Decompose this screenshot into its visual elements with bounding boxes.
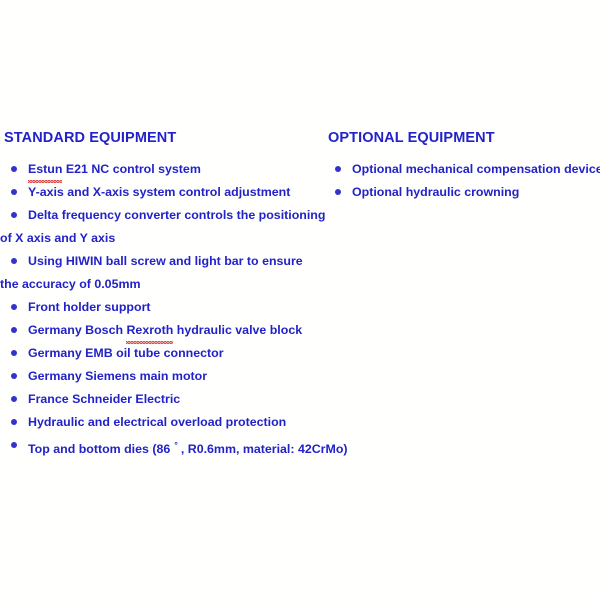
list-item: Using HIWIN ball screw and light bar to … (4, 250, 322, 273)
list-item: Estun E21 NC control system (4, 158, 322, 181)
bullet-dot-icon (11, 419, 17, 425)
list-item-label: Germany Siemens main motor (28, 365, 207, 388)
bullet-dot-icon (11, 350, 17, 356)
spellcheck-word: Estun (28, 158, 62, 181)
bullet-dot-icon (11, 442, 17, 448)
list-item: Germany EMB oil tube connector (4, 342, 322, 365)
list-item-label: Using HIWIN ball screw and light bar to … (28, 250, 303, 273)
dies-angle-prefix: Top and bottom dies (86 (28, 442, 170, 456)
list-item: Y-axis and X-axis system control adjustm… (4, 181, 322, 204)
bullet-dot-icon (335, 189, 341, 195)
bullet-dot-icon (11, 166, 17, 172)
list-item: Germany Bosch Rexroth hydraulic valve bl… (4, 319, 322, 342)
list-item-label: Germany EMB oil tube connector (28, 342, 224, 365)
optional-equipment-list: Optional mechanical compensation device … (328, 158, 600, 204)
list-item: Optional mechanical compensation device (328, 158, 600, 181)
bullet-dot-icon (11, 212, 17, 218)
standard-equipment-column: STANDARD EQUIPMENT Estun E21 NC control … (4, 129, 322, 461)
dies-angle-suffix: , R0.6mm, material: 42CrMo) (181, 442, 348, 456)
spellcheck-word: Rexroth (126, 319, 173, 342)
bullet-dot-icon (11, 396, 17, 402)
list-item: Optional hydraulic crowning (328, 181, 600, 204)
list-item: France Schneider Electric (4, 388, 322, 411)
bullet-dot-icon (335, 166, 341, 172)
list-item-label: Delta frequency converter controls the p… (28, 204, 325, 227)
bullet-dot-icon (11, 258, 17, 264)
list-item-label: Hydraulic and electrical overload protec… (28, 411, 286, 434)
list-item-label: France Schneider Electric (28, 388, 180, 411)
list-item: Germany Siemens main motor (4, 365, 322, 388)
list-item-label: Germany Bosch Rexroth hydraulic valve bl… (28, 319, 302, 342)
standard-equipment-list: Estun E21 NC control system Y-axis and X… (4, 158, 322, 461)
list-item-continuation: the accuracy of 0.05mm (0, 273, 322, 296)
degree-symbol-icon: ° (170, 440, 181, 450)
list-item-continuation: of X axis and Y axis (0, 227, 322, 250)
bullet-dot-icon (11, 327, 17, 333)
bullet-dot-icon (11, 373, 17, 379)
list-item-label-prefix: Germany Bosch (28, 323, 126, 337)
list-item-label-suffix: hydraulic valve block (173, 323, 302, 337)
list-item: Front holder support (4, 296, 322, 319)
list-item-label: Estun E21 NC control system (28, 158, 201, 181)
list-item-label: Optional hydraulic crowning (352, 181, 519, 204)
list-item-label: Front holder support (28, 296, 151, 319)
list-item-label-suffix: E21 NC control system (62, 162, 200, 176)
standard-equipment-heading: STANDARD EQUIPMENT (4, 129, 322, 147)
specification-sheet: STANDARD EQUIPMENT Estun E21 NC control … (0, 0, 600, 600)
bullet-dot-icon (11, 189, 17, 195)
list-item-label: Top and bottom dies (86°, R0.6mm, materi… (28, 434, 348, 461)
list-item-label: Optional mechanical compensation device (352, 158, 600, 181)
list-item: Delta frequency converter controls the p… (4, 204, 322, 227)
list-item: Top and bottom dies (86°, R0.6mm, materi… (4, 434, 322, 461)
optional-equipment-column: OPTIONAL EQUIPMENT Optional mechanical c… (328, 129, 600, 204)
list-item: Hydraulic and electrical overload protec… (4, 411, 322, 434)
list-item-label: Y-axis and X-axis system control adjustm… (28, 181, 290, 204)
bullet-dot-icon (11, 304, 17, 310)
optional-equipment-heading: OPTIONAL EQUIPMENT (328, 129, 600, 147)
